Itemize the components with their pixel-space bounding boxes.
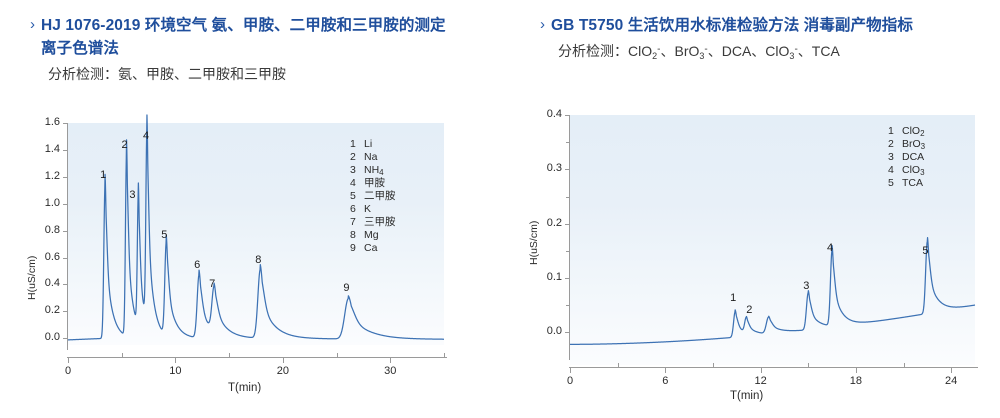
peak-label-2: 2 (746, 304, 752, 316)
peak-label-4: 4 (143, 130, 149, 142)
legend-number: 3 (888, 151, 902, 164)
header-right: › GB T5750 生活饮用水标准检验方法 消毒副产物指标 分析检测：ClO2… (540, 14, 1000, 65)
legend-number: 8 (350, 229, 364, 242)
legend-item-6: 6K (350, 203, 396, 216)
legend-item-8: 8Mg (350, 229, 396, 242)
y-axis-label-left: H(uS/cm) (26, 256, 38, 300)
legend-number: 3 (350, 164, 364, 177)
peak-label-9: 9 (343, 282, 349, 294)
legend-number: 5 (350, 190, 364, 203)
trace-path (570, 238, 975, 345)
peak-label-2: 2 (122, 139, 128, 151)
chevron-right-icon: › (30, 14, 35, 35)
legend-label: TCA (902, 177, 923, 190)
legend-label: DCA (902, 151, 924, 164)
legend-number: 9 (350, 242, 364, 255)
peak-label-1: 1 (730, 292, 736, 304)
legend-number: 2 (350, 151, 364, 164)
legend-label: Mg (364, 229, 379, 242)
legend-label: Li (364, 138, 372, 151)
legend-item-9: 9Ca (350, 242, 396, 255)
title-row-left: › HJ 1076-2019 环境空气 氨、甲胺、二甲胺和三甲胺的测定离子色谱法 (30, 14, 490, 60)
analyte-4: ClO3- (765, 43, 797, 59)
analyte-5: TCA (812, 43, 840, 59)
legend-item-3: 3DCA (888, 151, 925, 164)
page-title-right: GB T5750 生活饮用水标准检验方法 消毒副产物指标 (551, 14, 913, 37)
panel-right: › GB T5750 生活饮用水标准检验方法 消毒副产物指标 分析检测：ClO2… (500, 0, 1000, 418)
chevron-right-icon: › (540, 14, 545, 35)
peak-label-7: 7 (209, 278, 215, 290)
legend-number: 1 (350, 138, 364, 151)
chart-left: 0.00.20.40.60.81.01.21.41.60102030 12345… (0, 100, 500, 418)
analyte-2: BrO3- (674, 43, 707, 59)
chromatogram-trace-left (0, 100, 500, 418)
legend-item-4: 4ClO3 (888, 164, 925, 177)
analyte-1: ClO2- (628, 43, 660, 59)
peak-label-4: 4 (827, 242, 833, 254)
page-title-left: HJ 1076-2019 环境空气 氨、甲胺、二甲胺和三甲胺的测定离子色谱法 (41, 14, 446, 60)
legend-number: 7 (350, 216, 364, 229)
legend-label: Na (364, 151, 377, 164)
y-axis-label-right: H(uS/cm) (528, 221, 540, 265)
page-subtitle-right: 分析检测：ClO2-、BrO3-、DCA、ClO3-、TCA (558, 40, 1000, 65)
legend-label: 三甲胺 (364, 216, 396, 229)
peak-label-3: 3 (803, 280, 809, 292)
legend-item-2: 2Na (350, 151, 396, 164)
legend-number: 5 (888, 177, 902, 190)
legend-right: 1ClO22BrO33DCA4ClO35TCA (888, 125, 925, 190)
legend-item-7: 7三甲胺 (350, 216, 396, 229)
peak-label-6: 6 (194, 259, 200, 271)
analyte-3: DCA (722, 43, 752, 59)
legend-item-3: 3NH4 (350, 164, 396, 177)
x-axis-label-left: T(min) (228, 382, 261, 394)
legend-item-4: 4甲胺 (350, 177, 396, 190)
legend-item-1: 1ClO2 (888, 125, 925, 138)
title-row-right: › GB T5750 生活饮用水标准检验方法 消毒副产物指标 (540, 14, 1000, 37)
legend-item-2: 2BrO3 (888, 138, 925, 151)
peak-label-8: 8 (255, 254, 261, 266)
legend-item-1: 1Li (350, 138, 396, 151)
legend-left: 1Li2Na3NH44甲胺5二甲胺6K7三甲胺8Mg9Ca (350, 138, 396, 255)
legend-item-5: 5二甲胺 (350, 190, 396, 203)
chart-right: 0.00.10.20.30.406121824 12345 1ClO22BrO3… (500, 90, 1000, 418)
peak-label-5: 5 (161, 229, 167, 241)
legend-item-5: 5TCA (888, 177, 925, 190)
peak-label-3: 3 (129, 189, 135, 201)
page-title-left-line2: 离子色谱法 (41, 40, 119, 57)
legend-label: BrO3 (902, 138, 925, 151)
peak-label-1: 1 (100, 169, 106, 181)
page-subtitle-left: 分析检测：氨、甲胺、二甲胺和三甲胺 (48, 63, 490, 85)
legend-label: ClO2 (902, 125, 925, 138)
legend-number: 6 (350, 203, 364, 216)
legend-label: ClO3 (902, 164, 925, 177)
header-left: › HJ 1076-2019 环境空气 氨、甲胺、二甲胺和三甲胺的测定离子色谱法… (30, 14, 490, 85)
page-title-left-line1: HJ 1076-2019 环境空气 氨、甲胺、二甲胺和三甲胺的测定 (41, 17, 446, 34)
legend-number: 4 (350, 177, 364, 190)
panel-left: › HJ 1076-2019 环境空气 氨、甲胺、二甲胺和三甲胺的测定离子色谱法… (0, 0, 500, 418)
legend-label: K (364, 203, 371, 216)
legend-number: 2 (888, 138, 902, 151)
legend-label: Ca (364, 242, 377, 255)
legend-label: NH4 (364, 164, 384, 177)
peak-label-5: 5 (922, 245, 928, 257)
legend-number: 4 (888, 164, 902, 177)
legend-label: 二甲胺 (364, 190, 396, 203)
legend-number: 1 (888, 125, 902, 138)
x-axis-label-right: T(min) (730, 390, 763, 402)
legend-label: 甲胺 (364, 177, 385, 190)
